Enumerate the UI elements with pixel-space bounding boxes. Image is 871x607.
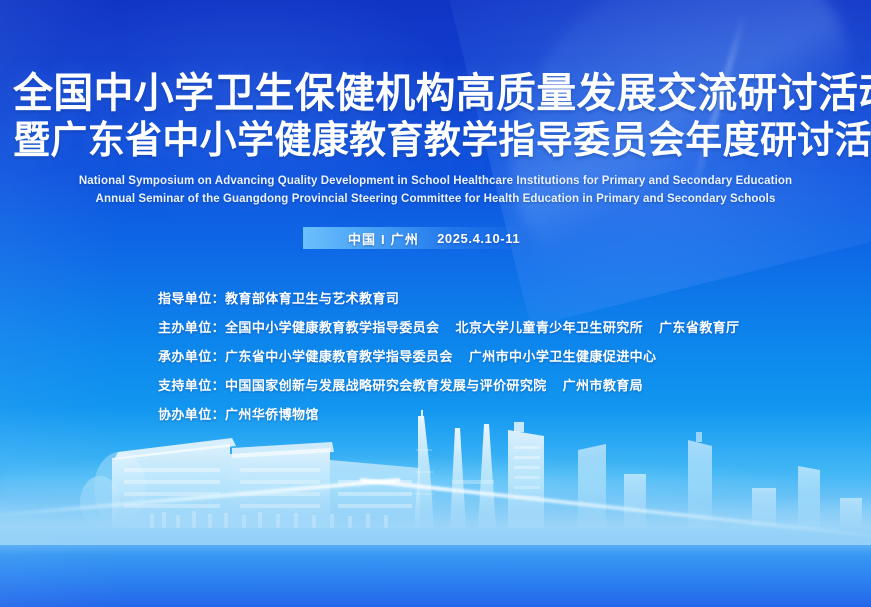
location-date-badge: 中国 I 广州 2025.4.10-11 (303, 227, 565, 249)
organizer-values: 全国中小学健康教育教学指导委员会 北京大学儿童青少年卫生研究所 广东省教育厅 (225, 317, 739, 336)
organizer-row: 主办单位： 全国中小学健康教育教学指导委员会 北京大学儿童青少年卫生研究所 广东… (158, 317, 739, 336)
organizer-value: 北京大学儿童青少年卫生研究所 (455, 317, 643, 336)
badge-date-label: 2025.4.10-11 (437, 231, 520, 246)
organizer-value: 全国中小学健康教育教学指导委员会 (225, 317, 439, 336)
poster-title-line2: 暨广东省中小学健康教育教学指导委员会年度研讨活动 (13, 121, 858, 161)
organizer-label: 指导单位： (158, 288, 225, 307)
organizer-value: 广东省教育厅 (659, 317, 739, 336)
organizer-values: 广东省中小学健康教育教学指导委员会 广州市中小学卫生健康促进中心 (225, 346, 656, 365)
organizer-row: 承办单位： 广东省中小学健康教育教学指导委员会 广州市中小学卫生健康促进中心 (158, 346, 739, 365)
poster-subtitle-english: National Symposium on Advancing Quality … (0, 173, 871, 209)
subtitle-english-line2: Annual Seminar of the Guangdong Provinci… (0, 191, 871, 209)
organizer-value: 广州市中小学卫生健康促进中心 (469, 346, 657, 365)
organizer-label: 支持单位： (158, 375, 225, 394)
organizer-label: 主办单位： (158, 317, 225, 336)
title-block: 全国中小学卫生保健机构高质量发展交流研讨活动 暨广东省中小学健康教育教学指导委员… (0, 72, 871, 208)
organizer-value: 广州华侨博物馆 (225, 404, 319, 423)
organizer-label: 承办单位： (158, 346, 225, 365)
organizer-label: 协办单位： (158, 404, 225, 423)
organizer-values: 教育部体育卫生与艺术教育司 (225, 288, 399, 307)
organizer-row: 协办单位： 广州华侨博物馆 (158, 404, 739, 423)
organizer-value: 中国国家创新与发展战略研究会教育发展与评价研究院 (225, 375, 547, 394)
organizer-row: 支持单位： 中国国家创新与发展战略研究会教育发展与评价研究院 广州市教育局 (158, 375, 739, 394)
organizer-values: 中国国家创新与发展战略研究会教育发展与评价研究院 广州市教育局 (225, 375, 643, 394)
badge-city-label: 中国 I 广州 (348, 229, 419, 248)
organizer-values: 广州华侨博物馆 (225, 404, 319, 423)
poster-title-line1: 全国中小学卫生保健机构高质量发展交流研讨活动 (13, 72, 858, 115)
organizer-value: 广东省中小学健康教育教学指导委员会 (225, 346, 453, 365)
subtitle-english-line1: National Symposium on Advancing Quality … (0, 173, 871, 191)
conference-poster: 全国中小学卫生保健机构高质量发展交流研讨活动 暨广东省中小学健康教育教学指导委员… (0, 0, 871, 607)
poster-content: 全国中小学卫生保健机构高质量发展交流研讨活动 暨广东省中小学健康教育教学指导委员… (0, 0, 871, 607)
organizer-list: 指导单位： 教育部体育卫生与艺术教育司 主办单位： 全国中小学健康教育教学指导委… (158, 288, 739, 433)
organizer-value: 广州市教育局 (563, 375, 643, 394)
organizer-value: 教育部体育卫生与艺术教育司 (225, 288, 399, 307)
organizer-row: 指导单位： 教育部体育卫生与艺术教育司 (158, 288, 739, 307)
